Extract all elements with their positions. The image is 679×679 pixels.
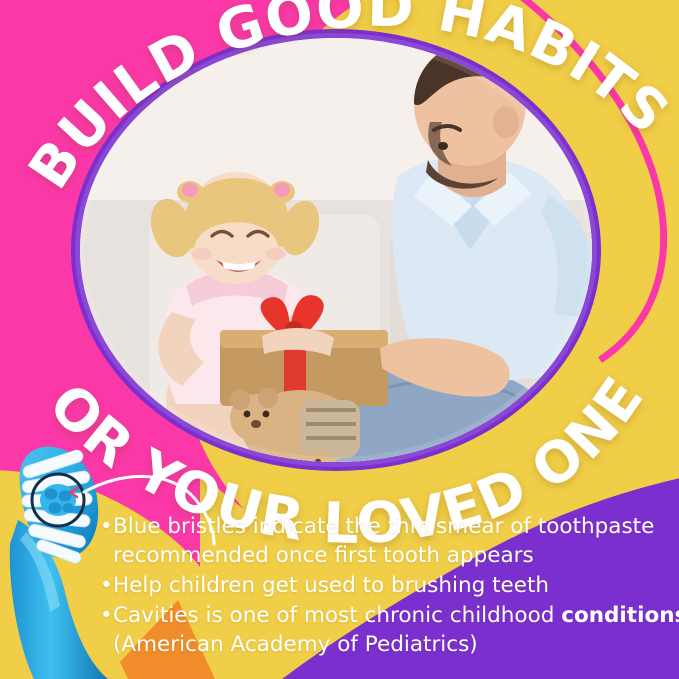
bullet-2-bold-tail: conditions (561, 603, 679, 628)
bullet-2-line-1: Cavities is one of most chronic childhoo… (113, 603, 561, 628)
bullet-0-line-2: recommended once first tooth appears (113, 541, 675, 570)
bullet-1-line-1: Help children get used to brushing teeth (113, 573, 549, 598)
promo-poster: BUILD GOOD HABITS FOR YOUR LOVED ONES (0, 0, 679, 679)
bullet-2-line-2: (American Academy of Pediatrics) (113, 630, 675, 659)
list-item: •Cavities is one of most chronic childho… (100, 601, 675, 659)
bullet-0-line-1: Blue bristles indicate the thin smear of… (113, 514, 654, 539)
bullet-marker-2: • (100, 601, 113, 630)
bullet-list: •Blue bristles indicate the thin smear o… (100, 512, 675, 660)
list-item: •Blue bristles indicate the thin smear o… (100, 512, 675, 570)
bullet-marker-1: • (100, 571, 113, 600)
list-item: •Help children get used to brushing teet… (100, 571, 675, 600)
bullet-marker-0: • (100, 512, 113, 541)
